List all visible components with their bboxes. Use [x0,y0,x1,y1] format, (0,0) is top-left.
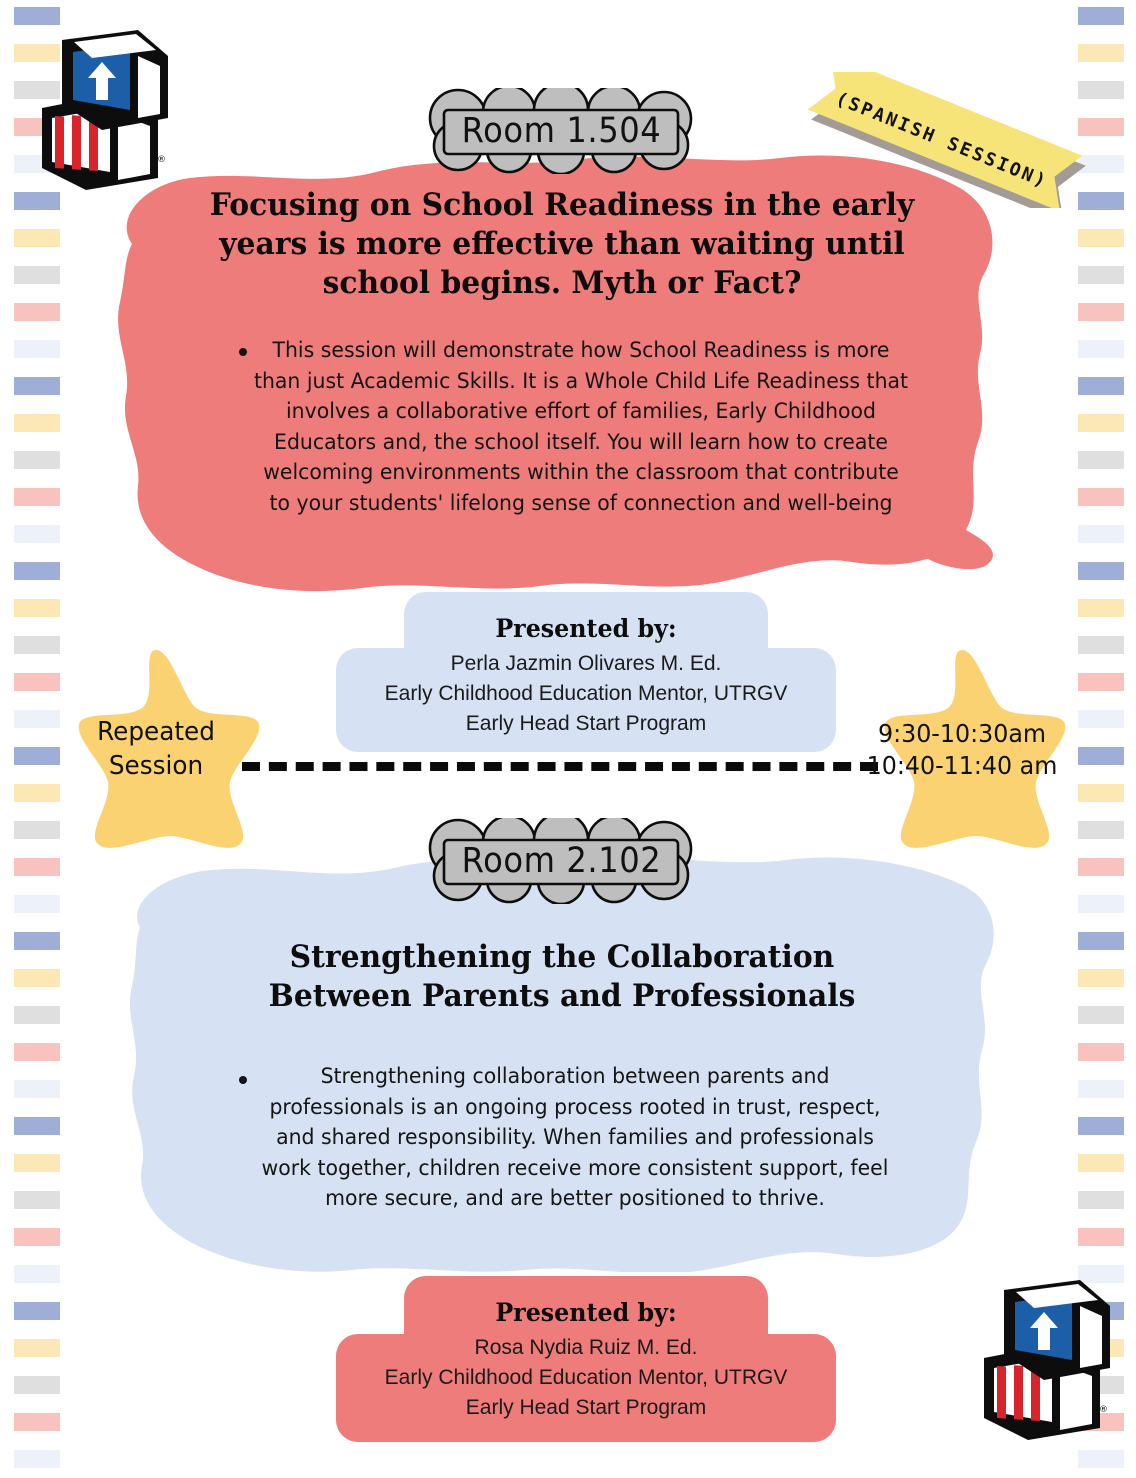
border-stripe [1078,969,1124,987]
presented-by-heading-1: Presented by: [349,614,824,643]
border-stripe [14,1154,60,1172]
border-stripe [1078,340,1124,358]
border-stripe [14,1043,60,1061]
presenter-program-2: Early Head Start Program [336,1393,836,1423]
head-start-blocks-logo-secondary: ® [968,1272,1118,1442]
bullet-icon-2 [239,1076,247,1084]
border-stripe [14,1413,60,1431]
border-stripe [14,599,60,617]
border-stripe [14,1376,60,1394]
border-stripe [1078,44,1124,62]
room-badge-1504: Room 1.504 [418,88,704,174]
border-stripe [14,1006,60,1024]
border-stripe [14,858,60,876]
border-stripe [1078,414,1124,432]
border-stripe [1078,562,1124,580]
border-stripe [14,1117,60,1135]
border-stripe [1078,266,1124,284]
border-stripe [14,1191,60,1209]
border-stripe [1078,303,1124,321]
session-title-2: Strengthening the Collaboration Between … [214,938,909,1016]
session-body-1: This session will demonstrate how School… [253,336,909,519]
room-badge-label: Room 2.102 [461,841,661,881]
border-stripe [1078,229,1124,247]
bullet-icon-1 [239,348,247,356]
border-stripe [1078,1043,1124,1061]
svg-text:®: ® [1099,1405,1108,1415]
session-times-star: 9:30-10:30am 10:40-11:40 am [842,640,1082,860]
presenter-name-2: Rosa Nydia Ruiz M. Ed. [336,1333,836,1363]
presenter-role-2: Early Childhood Education Mentor, UTRGV [336,1363,836,1393]
border-stripe [14,1339,60,1357]
border-stripe [1078,932,1124,950]
repeated-session-star: Repeated Session [36,640,276,860]
border-stripe [1078,710,1124,728]
border-stripe [14,229,60,247]
border-stripe [1078,1191,1124,1209]
border-stripe [1078,525,1124,543]
border-stripe [1078,784,1124,802]
border-stripe [1078,1154,1124,1172]
repeated-session-line1: Repeated [97,716,215,750]
session-times-star-text: 9:30-10:30am 10:40-11:40 am [848,640,1076,860]
border-stripe [14,377,60,395]
border-stripe [1078,895,1124,913]
border-stripe [1078,488,1124,506]
border-stripe [14,1265,60,1283]
room-badge-2102: Room 2.102 [418,818,704,904]
head-start-blocks-logo: ® [26,22,176,192]
repeated-session-star-text: Repeated Session [42,640,270,860]
border-stripe [14,266,60,284]
presented-by-heading-2: Presented by: [349,1298,824,1327]
session-body-2: Strengthening collaboration between pare… [253,1062,897,1215]
border-stripe [1078,1117,1124,1135]
border-stripe [1078,1006,1124,1024]
presenter-name-1: Perla Jazmin Olivares M. Ed. [336,649,836,679]
border-stripe [14,1450,60,1468]
border-stripe [1078,821,1124,839]
border-stripe [14,451,60,469]
border-stripe [1078,858,1124,876]
presenter-panel-2: Presented by: Rosa Nydia Ruiz M. Ed. Ear… [336,1276,836,1442]
border-stripe [14,562,60,580]
border-stripe [14,525,60,543]
border-stripe [1078,451,1124,469]
border-stripe [14,895,60,913]
right-stripe-border [1078,0,1124,1478]
border-stripe [14,1302,60,1320]
room-badge-label: Room 1.504 [461,111,661,151]
border-stripe [14,192,60,210]
border-stripe [1078,636,1124,654]
border-stripe [1078,673,1124,691]
border-stripe [14,1080,60,1098]
border-stripe [14,932,60,950]
presenter-role-1: Early Childhood Education Mentor, UTRGV [336,679,836,709]
border-stripe [1078,1080,1124,1098]
session-title-1: Focusing on School Readiness in the earl… [174,186,950,303]
border-stripe [14,1228,60,1246]
border-stripe [14,340,60,358]
repeated-session-line2: Session [109,750,203,784]
presenter-panel-1: Presented by: Perla Jazmin Olivares M. E… [336,592,836,752]
border-stripe [14,969,60,987]
svg-text:®: ® [157,155,166,165]
border-stripe [1078,599,1124,617]
session-time-line2: 10:40-11:40 am [867,750,1058,783]
border-stripe [14,414,60,432]
border-stripe [1078,747,1124,765]
border-stripe [1078,1228,1124,1246]
presenter-program-1: Early Head Start Program [336,709,836,739]
session-time-line1: 9:30-10:30am [878,718,1046,751]
poster-canvas: ® ® [0,0,1136,1478]
border-stripe [1078,7,1124,25]
repeat-connector-line [242,762,878,771]
border-stripe [1078,377,1124,395]
border-stripe [1078,1450,1124,1468]
border-stripe [14,303,60,321]
border-stripe [14,488,60,506]
